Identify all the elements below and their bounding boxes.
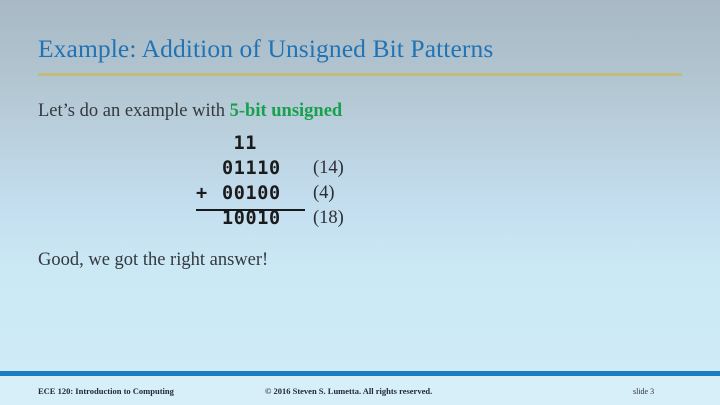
page-title: Example: Addition of Unsigned Bit Patter… (38, 34, 688, 64)
footer-copyright-label: © 2016 Steven S. Lumetta. All rights res… (265, 386, 432, 396)
sum-divider-rule (196, 209, 305, 211)
intro-highlight-text: 5-bit unsigned (230, 101, 343, 121)
intro-text: Let’s do an example with (38, 101, 230, 121)
footer-slide-number: slide 3 (633, 387, 654, 396)
addend-one-decimal: (14) (313, 156, 344, 181)
addend-two-row: + 00100 (4) (196, 181, 456, 206)
addend-two-decimal: (4) (313, 181, 335, 206)
addition-worksheet: 11 01110 (14) + 00100 (4) 10010 (18) (196, 131, 456, 231)
footer-course-label: ECE 120: Introduction to Computing (38, 386, 174, 396)
carry-row: 11 (196, 131, 456, 156)
closing-line: Good, we got the right answer! (38, 248, 268, 272)
addend-one-bits: 01110 (222, 156, 281, 181)
sum-decimal: (18) (313, 206, 344, 231)
slide-canvas: Example: Addition of Unsigned Bit Patter… (0, 0, 720, 405)
plus-operator: + (196, 181, 218, 206)
addend-one-row: 01110 (14) (196, 156, 456, 181)
intro-line: Let’s do an example with 5-bit unsigned (38, 99, 342, 123)
title-underline-rule (38, 73, 682, 76)
slide-footer: ECE 120: Introduction to Computing © 201… (0, 376, 720, 405)
carry-bits: 11 (234, 131, 257, 156)
addend-two-bits: 00100 (222, 181, 281, 206)
